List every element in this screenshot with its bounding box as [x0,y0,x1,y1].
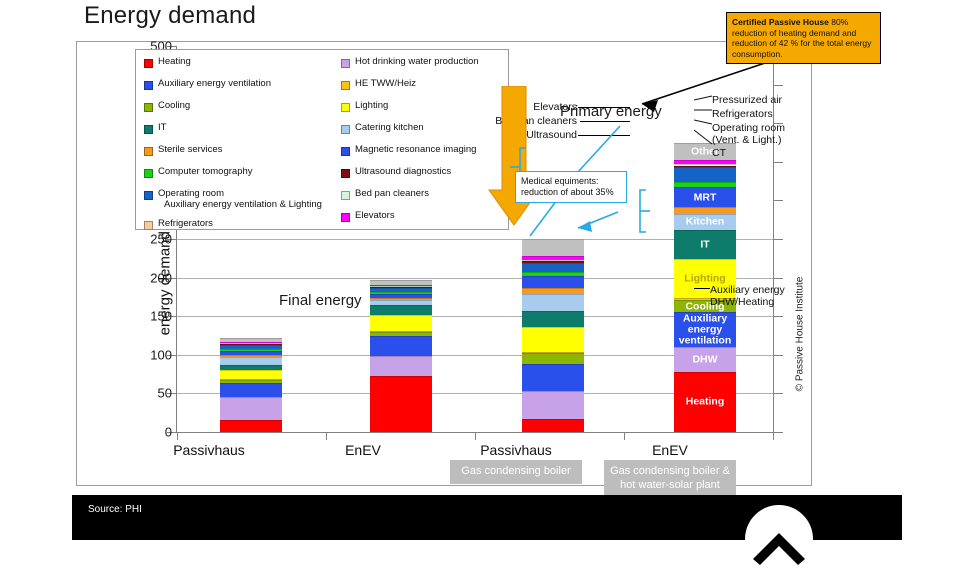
legend-swatch-icon [144,103,153,112]
bar-segment[interactable] [370,376,432,432]
xlabel-enev-primary: EnEV [595,442,745,458]
callout-medical-text: Medical equiments: reduction of about 35… [521,176,614,197]
legend-item-label: HE TWW/Heiz [355,78,416,89]
bar-segment[interactable] [370,305,432,315]
legend-item[interactable]: HE TWW/Heiz [341,78,511,96]
logo-icon [745,505,813,573]
legend-item[interactable]: Refrigerators [144,218,344,236]
legend-item[interactable]: Bed pan cleaners [341,188,511,206]
copyright-note: © Passive House Institute [795,277,806,392]
legend-column-right: Hot drinking water productionHE TWW/Heiz… [341,56,511,232]
chart-legend: HeatingAuxiliary energy ventilationCooli… [135,49,509,230]
source-label: Source: PHI [88,504,142,515]
legend-item-label: Refrigerators [158,218,213,229]
y-tick-right [774,355,783,356]
category-tick [326,432,327,440]
medical-callout-leader-icon [500,120,720,320]
legend-swatch-icon [341,213,350,222]
legend-swatch-icon [144,169,153,178]
legend-item[interactable]: Ultrasound diagnostics [341,166,511,184]
category-tick [624,432,625,440]
y-tick-label: 0 [112,425,172,440]
legend-swatch-icon [341,125,350,134]
category-tick [177,432,178,440]
caption-final-energy: Final energy [273,291,368,310]
bar-segment[interactable] [522,353,584,364]
logo-roof-shape-icon [751,531,807,571]
legend-item[interactable]: Cooling [144,100,344,118]
page-title: Energy demand [84,2,256,30]
legend-item-label: Elevators [355,210,395,221]
y-tick-right [774,278,783,279]
legend-swatch-icon [144,147,153,156]
legend-item[interactable]: Operating roomAuxiliary energy ventilati… [144,188,344,214]
legend-item-label: Heating [158,56,191,67]
legend-column-left: HeatingAuxiliary energy ventilationCooli… [144,56,344,240]
legend-item-label: Bed pan cleaners [355,188,429,199]
legend-swatch-icon [144,221,153,230]
bar-segment[interactable] [522,391,584,419]
legend-item-label: Ultrasound diagnostics [355,166,451,177]
anno-vent-light: (Vent. & Light.) [712,134,781,146]
legend-item[interactable]: Magnetic resonance imaging [341,144,511,162]
callout-certified-passive-house: Certified Passive House 80% reduction of… [726,12,881,64]
bar-segment[interactable] [220,397,282,420]
y-tick-label: 50 [112,386,172,401]
legend-swatch-icon [341,59,350,68]
legend-item[interactable]: Computer tomography [144,166,344,184]
legend-item[interactable]: Auxiliary energy ventilation [144,78,344,96]
bar-segment[interactable] [522,419,584,432]
anno-aux-dhw-heating: Auxiliary energy DHW/Heating [710,284,785,308]
xlabel-passivhaus-final: Passivhaus [134,442,284,458]
legend-item-label: Computer tomography [158,166,253,177]
legend-item-label: Operating roomAuxiliary energy ventilati… [158,188,322,210]
y-tick-right [774,432,783,433]
xsub-passivhaus-primary: Gas condensing boiler [450,460,582,484]
y-tick-right [774,316,783,317]
legend-item-label: Sterile services [158,144,222,155]
legend-item[interactable]: Hot drinking water production [341,56,511,74]
legend-swatch-icon [341,103,350,112]
y-tick-label: 150 [112,309,172,324]
stacked-bar[interactable] [370,280,432,432]
xsub-enev-primary: Gas condensing boiler & hot water-solar … [604,460,736,498]
callout-bold-lead: Certified Passive House [732,17,829,27]
legend-item-label: Catering kitchen [355,122,424,133]
stacked-bar[interactable] [220,338,282,432]
bar-segment[interactable] [522,327,584,352]
legend-swatch-icon [144,125,153,134]
legend-item[interactable]: Sterile services [144,144,344,162]
callout-leader-arrow-icon [600,60,780,120]
legend-item[interactable]: Elevators [341,210,511,228]
legend-swatch-icon [341,191,350,200]
legend-item-label: Lighting [355,100,388,111]
anno-operating-room: Operating room [712,122,785,134]
legend-swatch-icon [144,59,153,68]
category-tick [475,432,476,440]
bar-segment[interactable] [370,336,432,356]
legend-swatch-icon [341,81,350,90]
bar-segment[interactable] [220,357,282,365]
legend-swatch-icon [144,81,153,90]
callout-medical-equipments: Medical equiments: reduction of about 35… [515,171,627,203]
y-tick-label: 100 [112,347,172,362]
legend-item[interactable]: Heating [144,56,344,74]
bar-segment[interactable] [370,356,432,375]
y-tick-right [774,239,783,240]
legend-swatch-icon [341,169,350,178]
xlabel-passivhaus-primary: Passivhaus [441,442,591,458]
legend-item[interactable]: IT [144,122,344,140]
xlabel-enev-final: EnEV [288,442,438,458]
y-tick-right [774,393,783,394]
y-tick-right [774,162,783,163]
legend-item-sublabel: Auxiliary energy ventilation & Lighting [158,199,322,210]
bar-segment[interactable]: DHW [674,347,736,372]
bar-segment-label: DHW [674,354,736,365]
bar-segment[interactable]: Heating [674,372,736,432]
bar-segment[interactable] [522,364,584,391]
category-tick [773,432,774,440]
legend-swatch-icon [341,147,350,156]
legend-item-label: Magnetic resonance imaging [355,144,476,155]
bar-segment[interactable] [220,383,282,396]
y-tick-label: 200 [112,270,172,285]
legend-item-label: IT [158,122,166,133]
bar-segment[interactable] [370,315,432,330]
legend-item-label: Cooling [158,100,190,111]
bar-segment[interactable] [220,370,282,379]
legend-swatch-icon [144,191,153,200]
y-tick-right [774,200,783,201]
legend-item-label: Auxiliary energy ventilation [158,78,271,89]
legend-item-label: Hot drinking water production [355,56,479,67]
bar-segment-label: Heating [674,397,736,408]
bar-segment[interactable] [220,420,282,432]
